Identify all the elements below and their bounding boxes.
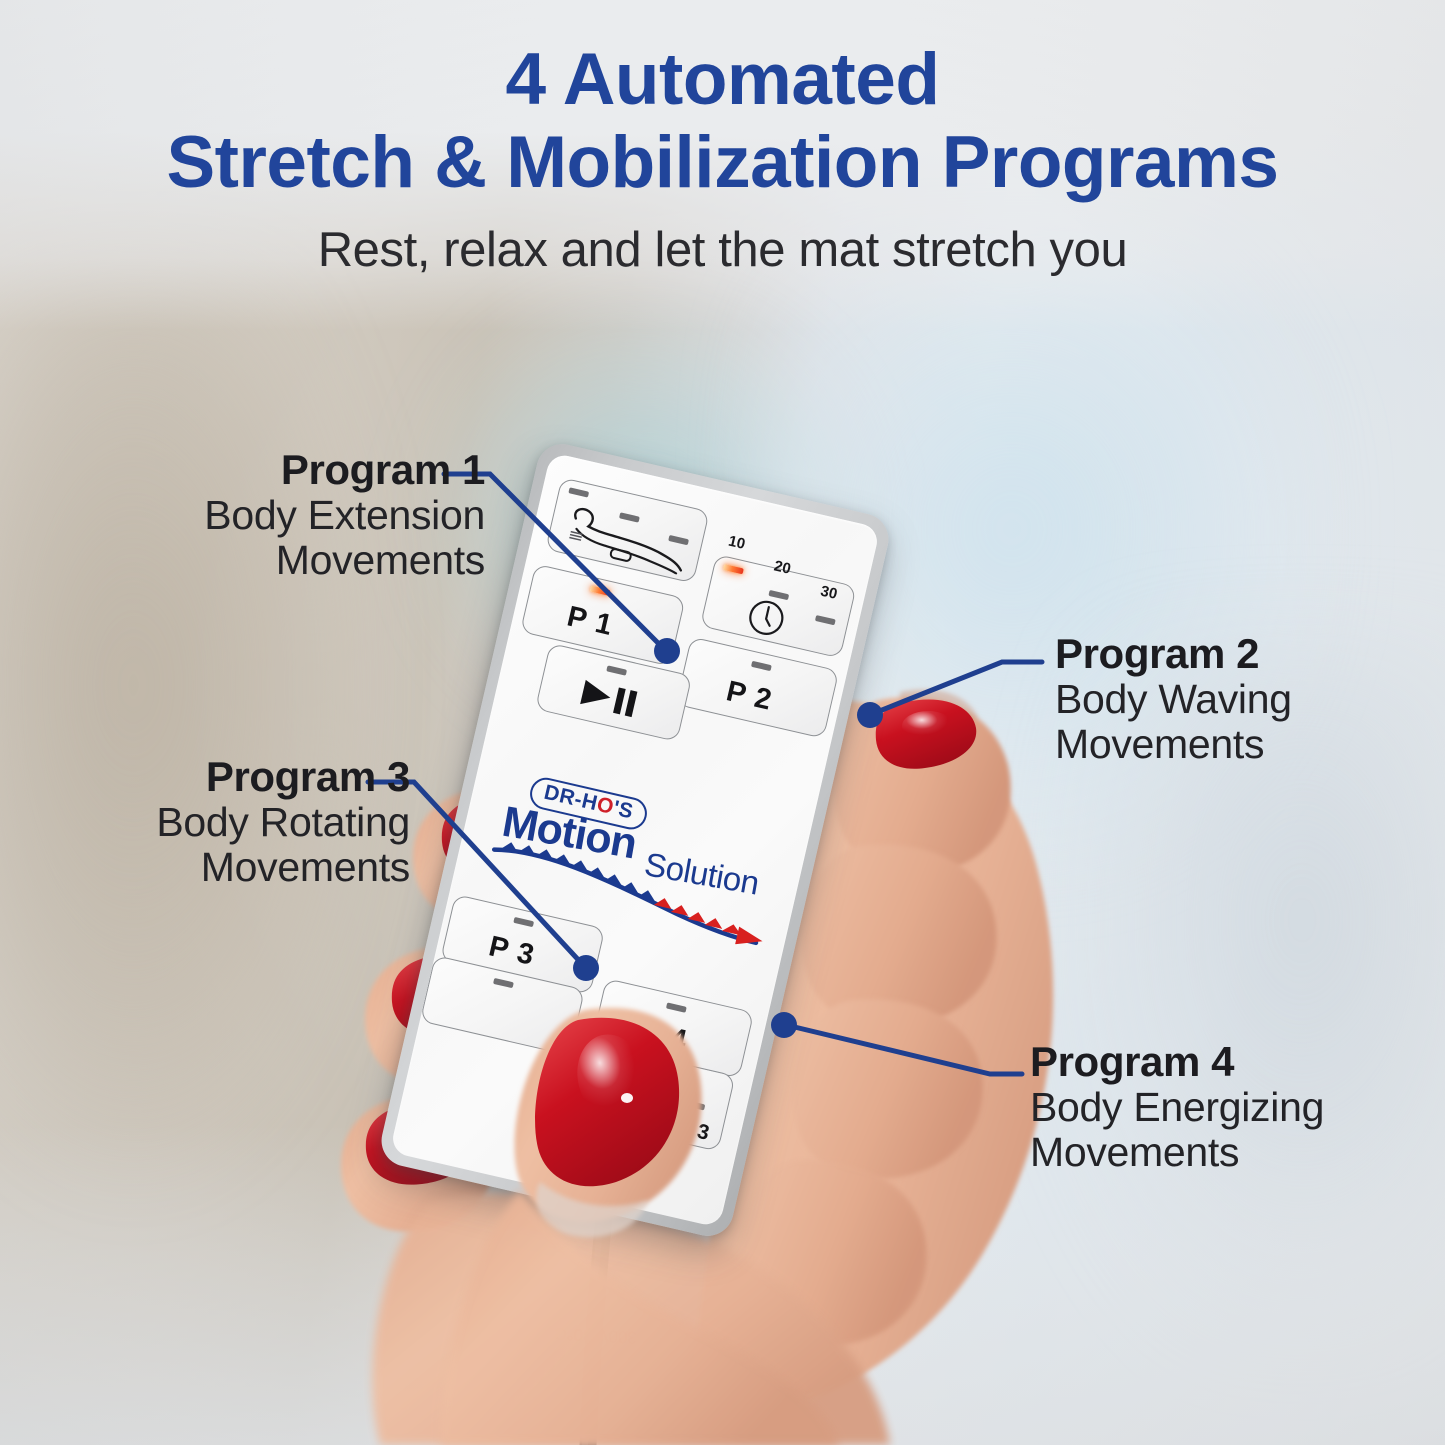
callout-program-4-title: Program 4	[1030, 1040, 1430, 1085]
callout-program-3-title: Program 3	[10, 755, 410, 800]
callout-program-3-desc-1: Body Rotating	[10, 800, 410, 846]
callout-program-2-desc-2: Movements	[1055, 722, 1425, 768]
callout-program-3-desc-2: Movements	[10, 845, 410, 891]
headline-line-1: 4 Automated	[0, 42, 1445, 117]
promo-image: 4 Automated Stretch & Mobilization Progr…	[0, 0, 1445, 1445]
callout-program-2-title: Program 2	[1055, 632, 1425, 677]
callout-program-4-desc-1: Body Energizing	[1030, 1085, 1430, 1131]
callout-program-1-desc-1: Body Extension	[40, 493, 485, 539]
callout-program-1: Program 1 Body Extension Movements	[40, 448, 485, 584]
subtitle: Rest, relax and let the mat stretch you	[0, 222, 1445, 278]
callout-program-2-desc-1: Body Waving	[1055, 677, 1425, 723]
header-block: 4 Automated Stretch & Mobilization Progr…	[0, 42, 1445, 278]
callout-program-1-desc-2: Movements	[40, 538, 485, 584]
callout-program-2: Program 2 Body Waving Movements	[1055, 632, 1425, 768]
callout-program-3: Program 3 Body Rotating Movements	[10, 755, 410, 891]
callout-program-4-desc-2: Movements	[1030, 1130, 1430, 1176]
callout-program-1-title: Program 1	[40, 448, 485, 493]
callout-program-4: Program 4 Body Energizing Movements	[1030, 1040, 1430, 1176]
headline-line-2: Stretch & Mobilization Programs	[0, 125, 1445, 200]
